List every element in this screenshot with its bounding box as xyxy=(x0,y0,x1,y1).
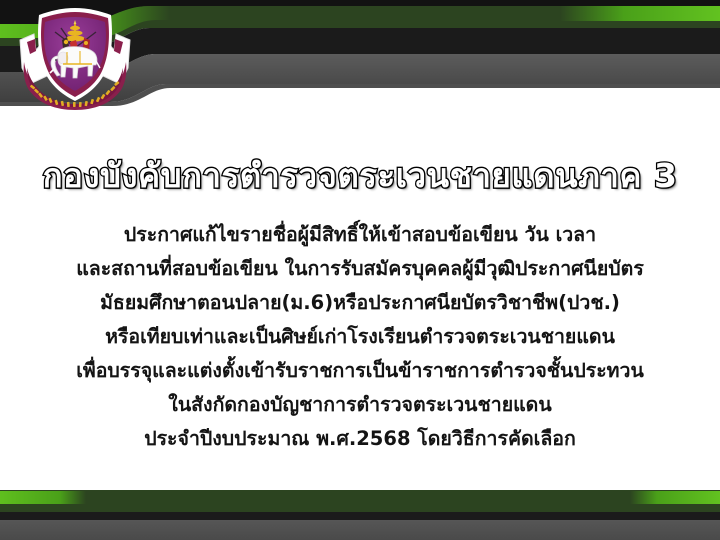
announcement-line-1: ประกาศแก้ไขรายชื่อผู้มีสิทธิ์ให้เข้าสอบข… xyxy=(0,218,720,252)
announcement-line-4: หรือเทียบเท่าและเป็นศิษย์เก่าโรงเรียนตำร… xyxy=(0,320,720,354)
bottom-decoration-banner xyxy=(0,486,720,540)
bottom-gray-band xyxy=(0,520,720,540)
bottom-green-highlight-right xyxy=(630,491,720,504)
bottom-green-highlight-left xyxy=(0,491,86,504)
emblem xyxy=(14,6,136,110)
page-title-container: กองบังคับการตำรวจตระเวนชายแดนภาค 3 xyxy=(0,158,720,194)
announcement-line-3: มัธยมศึกษาตอนปลาย(ม.6)หรือประกาศนียบัตรว… xyxy=(0,286,720,320)
announcement-body: ประกาศแก้ไขรายชื่อผู้มีสิทธิ์ให้เข้าสอบข… xyxy=(0,218,720,456)
top-green-highlight-right xyxy=(560,6,720,21)
bottom-green-band xyxy=(0,490,720,512)
announcement-line-5: เพื่อบรรจุและแต่งตั้งเข้ารับราชการเป็นข้… xyxy=(0,354,720,388)
announcement-line-6: ในสังกัดกองบัญชาการตำรวจตระเวนชายแดน xyxy=(0,388,720,422)
bottom-black-band xyxy=(0,512,720,520)
page-title: กองบังคับการตำรวจตระเวนชายแดนภาค 3 xyxy=(43,158,678,194)
announcement-line-2: และสถานที่สอบข้อเขียน ในการรับสมัครบุคคล… xyxy=(0,252,720,286)
presentation-slide: กองบังคับการตำรวจตระเวนชายแดนภาค 3 ประกา… xyxy=(0,0,720,540)
announcement-line-7: ประจำปีงบประมาณ พ.ศ.2568 โดยวิธีการคัดเล… xyxy=(0,422,720,456)
